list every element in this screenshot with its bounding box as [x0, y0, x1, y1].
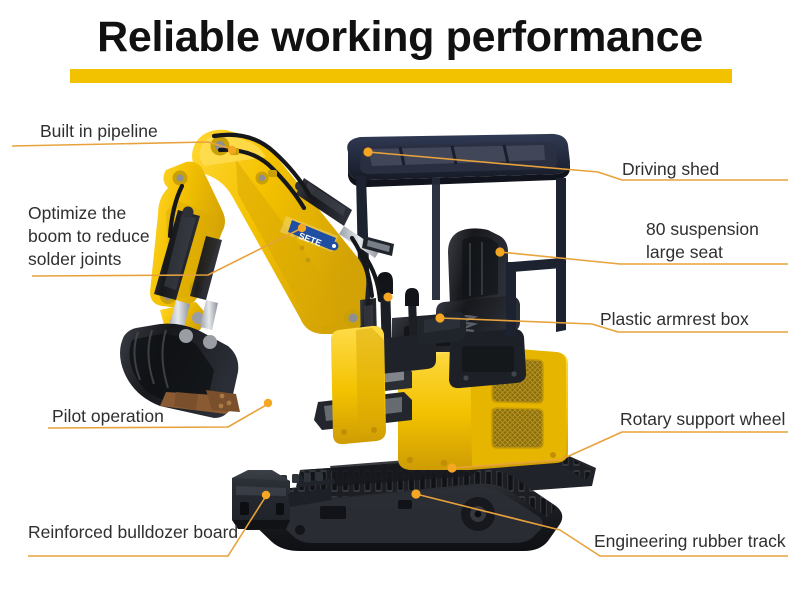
callout-label-rubber-track[interactable]: Engineering rubber track: [594, 530, 786, 553]
armrest-box: [417, 312, 466, 345]
cover-bolt: [407, 457, 413, 463]
infographic-canvas: Reliable working performance: [0, 0, 800, 604]
lever-knob-accent: [384, 293, 393, 302]
callout-label-optimize-boom[interactable]: Optimize the boom to reduce solder joint…: [28, 202, 150, 271]
canopy-pillar-rear: [556, 178, 566, 332]
cover-latch-bottom: [550, 452, 556, 458]
excavator-illustration: SETE: [0, 0, 800, 604]
callout-label-driving-shed[interactable]: Driving shed: [622, 158, 719, 181]
callout-label-plastic-armrest[interactable]: Plastic armrest box: [600, 308, 749, 331]
track-frame-slot: [320, 506, 346, 519]
track-frame-slot-2: [398, 500, 412, 509]
idler-bolt: [475, 511, 482, 518]
canopy-rear-rail: [512, 258, 562, 272]
callout-label-pilot-operation[interactable]: Pilot operation: [52, 405, 164, 428]
callout-label-suspension-seat[interactable]: 80 suspension large seat: [646, 218, 759, 264]
callout-label-rotary-support[interactable]: Rotary support wheel: [620, 408, 785, 431]
bucket: [120, 324, 240, 418]
callout-label-built-in-pipeline[interactable]: Built in pipeline: [40, 120, 158, 143]
swing-post: [331, 326, 386, 444]
canopy-pillar-mid: [432, 178, 440, 300]
cover-bolt-2: [441, 460, 447, 466]
track-bolt: [295, 525, 305, 535]
grille-vent-lower: [492, 408, 543, 448]
callout-label-reinforced-blade[interactable]: Reinforced bulldozer board: [28, 521, 238, 544]
